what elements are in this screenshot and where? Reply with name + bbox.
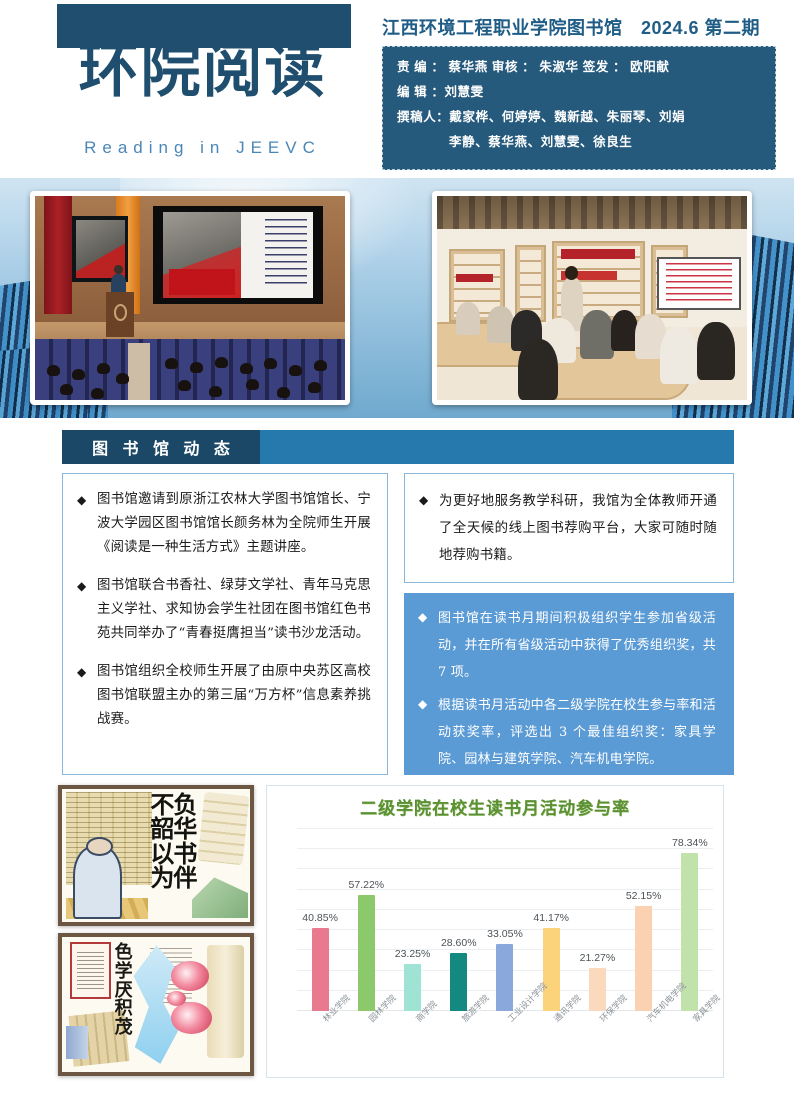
poster-1-calligraphy-text: 不负韶华以书为伴	[150, 793, 214, 915]
chart-bar-slot: 23.25%	[389, 829, 435, 1011]
masthead-subtitle: Reading in JEEVC	[30, 138, 375, 158]
list-item: ◆ 图书馆组织全校师生开展了由原中央苏区高校图书馆联盟主办的第三届“万方杯”信息…	[77, 660, 371, 732]
chart-bar[interactable]: 23.25%	[404, 964, 421, 1011]
lecture-hall-scene	[35, 196, 345, 400]
page-title: 环院阅读	[30, 40, 375, 103]
chart-bar-value-label: 28.60%	[441, 937, 477, 949]
chart-title: 二级学院在校生读书月活动参与率	[267, 794, 723, 819]
list-item-text: 为更好地服务教学科研，我馆为全体教师开通了全天候的线上图书荐购平台，大家可随时随…	[439, 488, 717, 569]
list-item: ◆ 根据读书月活动中各二级学院在校生参与率和活动获奖率，评选出 3 个最佳组织奖…	[418, 692, 716, 773]
chart-bar-slot: 21.27%	[574, 829, 620, 1011]
chart-x-axis-labels: 林业学院园林学院商学院旅游学院工业设计学院通讯学院环保学院汽车机电学院家具学院	[297, 1014, 713, 1076]
newsletter-page: 环院阅读 Reading in JEEVC 江西环境工程职业学院图书馆 2024…	[0, 0, 794, 1108]
credits-row-editor: 编 辑 ：刘慧雯	[397, 80, 761, 105]
chart-bar-slot: 41.17%	[528, 829, 574, 1011]
credits-row-writers: 撰稿人：戴家桦、何婷婷、魏新越、朱丽琴、刘娟	[397, 105, 761, 130]
chart-x-label-slot: 汽车机电学院	[621, 1014, 667, 1076]
chart-bar-value-label: 78.34%	[672, 837, 708, 849]
handwritten-poster-photo-2: 色学厌积茂	[58, 933, 254, 1076]
list-item: ◆ 图书馆邀请到原浙江农林大学图书馆馆长、宁波大学园区图书馆馆长颜务林为全院师生…	[77, 488, 371, 560]
masthead: 环院阅读 Reading in JEEVC	[0, 0, 375, 178]
lecture-hall-photo	[30, 191, 350, 405]
bottom-row: 不负韶华以书为伴 色学厌积茂 二级学院在校生读书月活动参与率 4	[0, 783, 794, 1083]
chart-bar-value-label: 40.85%	[302, 912, 338, 924]
diamond-bullet-icon: ◆	[418, 692, 438, 773]
list-item-text: 图书馆组织全校师生开展了由原中央苏区高校图书馆联盟主办的第三届“万方杯”信息素养…	[97, 660, 371, 732]
chart-bars: 40.85%57.22%23.25%28.60%33.05%41.17%21.2…	[297, 829, 713, 1011]
credits-box: 责 编 ： 蔡华燕 审核 ： 朱淑华 签发 ： 欧阳献 编 辑 ：刘慧雯 撰稿人…	[382, 46, 776, 170]
chart-bar-value-label: 57.22%	[349, 879, 385, 891]
chart-bar-slot: 57.22%	[343, 829, 389, 1011]
photo-band	[0, 178, 794, 418]
list-item: ◆ 图书馆在读书月期间积极组织学生参加省级活动，并在所有省级活动中获得了优秀组织…	[418, 605, 716, 686]
chart-bar-slot: 52.15%	[621, 829, 667, 1011]
list-item-text: 根据读书月活动中各二级学院在校生参与率和活动获奖率，评选出 3 个最佳组织奖：家…	[438, 692, 716, 773]
chart-bar-slot: 78.34%	[667, 829, 713, 1011]
credits-row-editors: 责 编 ： 蔡华燕 审核 ： 朱淑华 签发 ： 欧阳献	[397, 55, 761, 80]
section-heading-label: 图 书 馆 动 态	[62, 430, 260, 464]
section-header-bar: 图 书 馆 动 态	[62, 430, 734, 464]
chart-x-label-slot: 环保学院	[574, 1014, 620, 1076]
library-reading-room-scene	[437, 196, 747, 400]
diamond-bullet-icon: ◆	[418, 605, 438, 686]
publication-line: 江西环境工程职业学院图书馆 2024.6 第二期	[382, 14, 760, 40]
chart-bar-value-label: 41.17%	[533, 912, 569, 924]
library-news-card-left: ◆ 图书馆邀请到原浙江农林大学图书馆馆长、宁波大学园区图书馆馆长颜务林为全院师生…	[62, 473, 388, 775]
list-item: ◆ 为更好地服务教学科研，我馆为全体教师开通了全天候的线上图书荐购平台，大家可随…	[419, 488, 717, 569]
chart-bar-slot: 33.05%	[482, 829, 528, 1011]
list-item: ◆ 图书馆联合书香社、绿芽文学社、青年马克思主义学社、求知协会学生社团在图书馆红…	[77, 574, 371, 646]
participation-rate-chart: 二级学院在校生读书月活动参与率 40.85%57.22%23.25%28.60%…	[266, 785, 724, 1078]
chart-bar-slot: 40.85%	[297, 829, 343, 1011]
chart-bar[interactable]: 57.22%	[358, 895, 375, 1011]
chart-bar-value-label: 23.25%	[395, 948, 431, 960]
chart-bar[interactable]: 28.60%	[450, 953, 467, 1011]
credits-row-writers-cont: 李静、蔡华燕、刘慧雯、徐良生	[397, 130, 761, 155]
chart-x-label-slot: 工业设计学院	[482, 1014, 528, 1076]
chart-bar[interactable]: 33.05%	[496, 944, 513, 1011]
list-item-text: 图书馆邀请到原浙江农林大学图书馆馆长、宁波大学园区图书馆馆长颜务林为全院师生开展…	[97, 488, 371, 560]
chart-bar[interactable]: 40.85%	[312, 928, 329, 1011]
page-header: 环院阅读 Reading in JEEVC 江西环境工程职业学院图书馆 2024…	[0, 0, 794, 178]
chart-plot-area: 40.85%57.22%23.25%28.60%33.05%41.17%21.2…	[297, 829, 713, 1011]
chart-bar-value-label: 21.27%	[580, 952, 616, 964]
chart-bar[interactable]: 52.15%	[635, 906, 652, 1011]
chart-x-label-slot: 林业学院	[297, 1014, 343, 1076]
handwritten-poster-photo-1: 不负韶华以书为伴	[58, 785, 254, 926]
library-news-card-right-bottom: ◆ 图书馆在读书月期间积极组织学生参加省级活动，并在所有省级活动中获得了优秀组织…	[404, 593, 734, 775]
chart-bar-slot: 28.60%	[436, 829, 482, 1011]
diamond-bullet-icon: ◆	[77, 488, 97, 560]
chart-bar[interactable]: 21.27%	[589, 968, 606, 1011]
poster-2-calligraphy-text: 色学厌积茂	[115, 944, 145, 1052]
chart-bar-value-label: 33.05%	[487, 928, 523, 940]
list-item-text: 图书馆在读书月期间积极组织学生参加省级活动，并在所有省级活动中获得了优秀组织奖，…	[438, 605, 716, 686]
diamond-bullet-icon: ◆	[77, 660, 97, 732]
chart-x-label-slot: 园林学院	[343, 1014, 389, 1076]
diamond-bullet-icon: ◆	[419, 488, 439, 569]
chart-x-label-slot: 旅游学院	[436, 1014, 482, 1076]
chart-bar[interactable]: 41.17%	[543, 928, 560, 1011]
library-reading-room-photo	[432, 191, 752, 405]
chart-bar-value-label: 52.15%	[626, 890, 662, 902]
chart-x-label-slot: 商学院	[389, 1014, 435, 1076]
chart-x-label-slot: 家具学院	[667, 1014, 713, 1076]
list-item-text: 图书馆联合书香社、绿芽文学社、青年马克思主义学社、求知协会学生社团在图书馆红色书…	[97, 574, 371, 646]
chart-x-label-slot: 通讯学院	[528, 1014, 574, 1076]
library-news-card-right-top: ◆ 为更好地服务教学科研，我馆为全体教师开通了全天候的线上图书荐购平台，大家可随…	[404, 473, 734, 583]
diamond-bullet-icon: ◆	[77, 574, 97, 646]
